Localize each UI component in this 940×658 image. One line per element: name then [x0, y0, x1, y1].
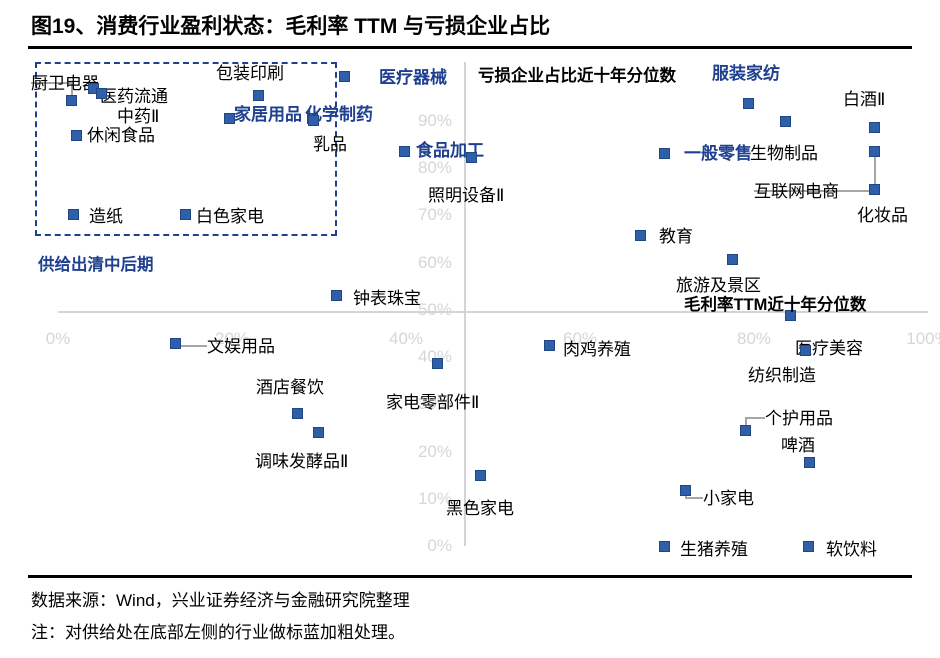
data-point-label: 互联网电商: [754, 183, 839, 200]
data-point-label: 软饮料: [826, 541, 877, 558]
footer-divider: [28, 575, 912, 578]
data-point-marker[interactable]: [740, 425, 751, 436]
data-point-marker[interactable]: [544, 340, 555, 351]
data-point-marker[interactable]: [800, 345, 811, 356]
data-point-marker[interactable]: [96, 88, 107, 99]
source-note: 数据来源：Wind，兴业证券经济与金融研究院整理: [31, 586, 410, 611]
data-point-marker[interactable]: [68, 209, 79, 220]
y-axis-tick-label: 70%: [400, 205, 452, 225]
scatter-plot-area: 90%80%70%60%50%40%30%20%10%0%0%20%40%60%…: [0, 52, 940, 572]
data-point-label: 化妆品: [857, 207, 908, 224]
y-axis-line: [464, 62, 466, 546]
leader-line: [745, 417, 765, 419]
data-point-marker[interactable]: [780, 116, 791, 127]
highlight-region-caption: 供给出清中后期: [38, 257, 154, 274]
data-point-label: 生猪养殖: [680, 541, 748, 558]
data-point-label: 生物制品: [750, 145, 818, 162]
data-point-label: 文娱用品: [207, 338, 275, 355]
data-point-label: 休闲食品: [87, 127, 155, 144]
data-point-marker[interactable]: [869, 184, 880, 195]
data-point-label: 造纸: [89, 208, 123, 225]
methodology-note: 注：对供给处在底部左侧的行业做标蓝加粗处理。: [31, 618, 405, 643]
data-point-marker[interactable]: [804, 457, 815, 468]
data-point-marker[interactable]: [803, 541, 814, 552]
data-point-marker[interactable]: [475, 470, 486, 481]
data-point-marker[interactable]: [170, 338, 181, 349]
data-point-marker[interactable]: [635, 230, 646, 241]
page-title: 图19、消费行业盈利状态：毛利率 TTM 与亏损企业占比: [31, 10, 550, 40]
data-point-marker[interactable]: [869, 122, 880, 133]
data-point-label: 一般零售: [684, 145, 752, 162]
y-axis-tick-label: 80%: [400, 158, 452, 178]
data-point-label: 白酒Ⅱ: [843, 91, 885, 108]
data-point-marker[interactable]: [432, 358, 443, 369]
y-axis-tick-label: 40%: [400, 347, 452, 367]
title-divider: [28, 46, 912, 49]
data-point-label: 小家电: [703, 490, 754, 507]
data-point-marker[interactable]: [180, 209, 191, 220]
y-axis-tick-label: 20%: [400, 442, 452, 462]
data-point-label: 黑色家电: [446, 500, 514, 517]
chart-page: 图19、消费行业盈利状态：毛利率 TTM 与亏损企业占比 90%80%70%60…: [0, 0, 940, 658]
x-axis-tick-label: 0%: [28, 329, 88, 349]
data-point-label: 纺织制造: [748, 367, 816, 384]
y-axis-tick-label: 10%: [400, 489, 452, 509]
data-point-marker[interactable]: [331, 290, 342, 301]
y-axis-tick-label: 0%: [400, 536, 452, 556]
data-point-marker[interactable]: [659, 148, 670, 159]
y-axis-tick-label: 90%: [400, 111, 452, 131]
data-point-label: 白色家电: [196, 208, 264, 225]
data-point-label: 乳品: [313, 136, 347, 153]
data-point-label: 个护用品: [765, 410, 833, 427]
data-point-marker[interactable]: [308, 115, 319, 126]
x-axis-tick-label: 40%: [376, 329, 436, 349]
data-point-marker[interactable]: [466, 152, 477, 163]
data-point-label: 调味发酵品Ⅱ: [255, 453, 348, 470]
data-point-label: 医药流通: [100, 88, 168, 105]
data-point-label: 教育: [659, 228, 693, 245]
y-axis-caption: 亏损企业占比近十年分位数: [478, 68, 676, 85]
data-point-marker[interactable]: [339, 71, 350, 82]
data-point-marker[interactable]: [869, 146, 880, 157]
data-point-marker[interactable]: [659, 541, 670, 552]
data-point-label: 家电零部件Ⅱ: [386, 394, 479, 411]
data-point-label: 啤酒: [781, 437, 815, 454]
data-point-label: 家居用品: [234, 106, 302, 123]
data-point-marker[interactable]: [253, 90, 264, 101]
x-axis-caption: 毛利率TTM近十年分位数: [684, 297, 866, 314]
y-axis-tick-label: 60%: [400, 253, 452, 273]
data-point-label: 照明设备Ⅱ: [428, 187, 504, 204]
data-point-marker[interactable]: [313, 427, 324, 438]
data-point-marker[interactable]: [71, 130, 82, 141]
data-point-label: 包装印刷: [216, 65, 284, 82]
data-point-marker[interactable]: [292, 408, 303, 419]
data-point-marker[interactable]: [680, 485, 691, 496]
data-point-label: 中药Ⅱ: [117, 108, 159, 125]
data-point-marker[interactable]: [743, 98, 754, 109]
data-point-label: 钟表珠宝: [353, 290, 421, 307]
data-point-label: 酒店餐饮: [256, 379, 324, 396]
data-point-label: 肉鸡养殖: [563, 341, 631, 358]
data-point-label: 服装家纺: [712, 65, 780, 82]
leader-line: [685, 497, 703, 499]
x-axis-tick-label: 100%: [898, 329, 940, 349]
data-point-label: 旅游及景区: [676, 277, 761, 294]
data-point-marker[interactable]: [727, 254, 738, 265]
data-point-marker[interactable]: [66, 95, 77, 106]
data-point-label: 医疗器械: [379, 69, 447, 86]
x-axis-tick-label: 80%: [724, 329, 784, 349]
data-point-marker[interactable]: [399, 146, 410, 157]
